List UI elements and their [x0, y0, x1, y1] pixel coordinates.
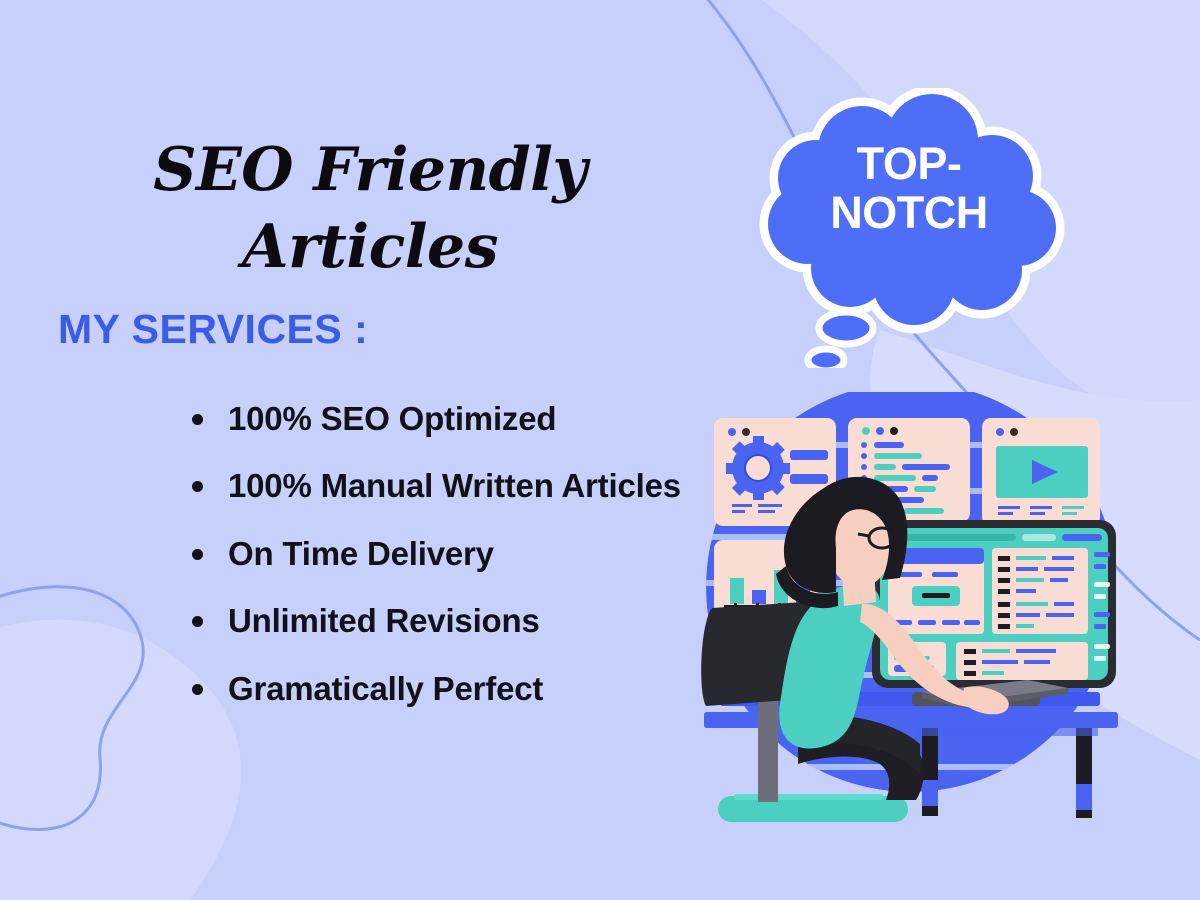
window-dot: [862, 427, 870, 435]
services-heading: MY SERVICES :: [58, 306, 368, 353]
page-title: SEO Friendly Articles: [60, 132, 680, 286]
services-list: 100% SEO Optimized 100% Manual Written A…: [176, 392, 696, 729]
thought-bubble-text: TOP- NOTCH: [744, 140, 1074, 237]
window-dot: [876, 427, 884, 435]
list-item: 100% SEO Optimized: [176, 392, 696, 446]
list-item-label: 100% Manual Written Articles: [228, 467, 681, 504]
poster-canvas: SEO Friendly Articles MY SERVICES : 100%…: [0, 0, 1200, 900]
list-item-label: Gramatically Perfect: [228, 670, 543, 707]
list-item-label: 100% SEO Optimized: [228, 400, 556, 437]
thought-bubble: TOP- NOTCH: [744, 88, 1074, 368]
thought-bubble-line2: NOTCH: [744, 189, 1074, 238]
thought-bubble-dot-large: [819, 312, 873, 344]
window-dot: [742, 428, 750, 436]
window-dot: [728, 428, 736, 436]
list-item: 100% Manual Written Articles: [176, 459, 696, 513]
monitor: [872, 520, 1116, 706]
list-item-label: Unlimited Revisions: [228, 602, 540, 639]
thought-bubble-line1: TOP-: [857, 138, 962, 189]
workspace-illustration: [676, 392, 1146, 852]
thought-bubble-dot-small: [808, 349, 844, 368]
list-item: Gramatically Perfect: [176, 662, 696, 716]
window-dot: [996, 428, 1004, 436]
window-dot: [890, 427, 898, 435]
page-title-line2: Articles: [60, 209, 680, 286]
decorative-squiggle-bottom: [0, 587, 143, 830]
list-item-label: On Time Delivery: [228, 535, 494, 572]
page-title-line1: SEO Friendly: [153, 135, 587, 205]
video-card: [982, 418, 1100, 526]
list-item: On Time Delivery: [176, 527, 696, 581]
list-item: Unlimited Revisions: [176, 594, 696, 648]
window-dot: [1010, 428, 1018, 436]
